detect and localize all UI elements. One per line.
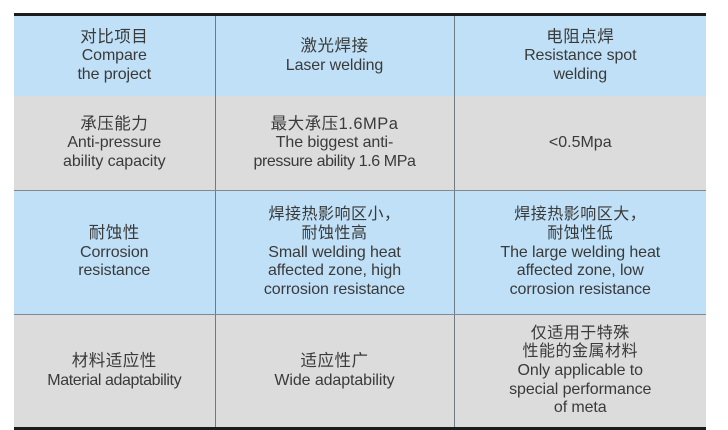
header-en-resistance-spot-welding-line2: welding — [460, 66, 702, 84]
cell-en-corrosion-resistance-line3: corrosion resistance — [460, 281, 702, 299]
cell-anti-pressure-laser: 最大承压1.6MPa The biggest anti- pressure ab… — [215, 96, 454, 191]
cell-en-corrosion-line1: Corrosion — [19, 244, 210, 262]
cell-cn-material-laser: 适应性广 — [221, 352, 449, 371]
header-en-laser-welding-line1: Laser welding — [221, 57, 449, 75]
cell-en-anti-pressure-line1: Anti-pressure — [19, 134, 210, 152]
cell-material-resistance: 仅适用于特殊 性能的金属材料 Only applicable to specia… — [454, 315, 706, 428]
cell-en-material-resistance-line2: special performance — [460, 381, 702, 399]
cell-cn-corrosion-laser-line2: 耐蚀性高 — [221, 225, 449, 244]
cell-cn-material-resistance-line1: 仅适用于特殊 — [460, 325, 702, 344]
cell-corrosion-label: 耐蚀性 Corrosion resistance — [14, 191, 215, 315]
cell-en-material-resistance-line3: of meta — [460, 399, 702, 417]
header-cn-laser-welding: 激光焊接 — [221, 37, 449, 56]
header-en-compare-project-line1: Compare — [19, 47, 210, 65]
cell-en-anti-pressure-laser-line2: pressure ability 1.6 MPa — [221, 153, 449, 171]
header-en-resistance-spot-welding-line1: Resistance spot — [460, 47, 702, 65]
cell-en-corrosion-line2: resistance — [19, 262, 210, 280]
cell-cn-anti-pressure-laser: 最大承压1.6MPa — [221, 115, 449, 134]
cell-cn-corrosion-resistance-line1: 焊接热影响区大， — [460, 206, 702, 225]
cell-material-laser: 适应性广 Wide adaptability — [215, 315, 454, 428]
header-cell-compare-project: 对比项目 Compare the project — [14, 16, 215, 96]
cell-en-corrosion-resistance-line2: affected zone, low — [460, 262, 702, 280]
cell-en-material-resistance-line1: Only applicable to — [460, 362, 702, 380]
cell-en-corrosion-laser-line2: affected zone, high — [221, 262, 449, 280]
cell-cn-material: 材料适应性 — [19, 352, 210, 371]
cell-en-corrosion-laser-line3: corrosion resistance — [221, 281, 449, 299]
header-cn-resistance-spot-welding: 电阻点焊 — [460, 28, 702, 47]
table-row: 材料适应性 Material adaptability 适应性广 Wide ad… — [14, 315, 706, 428]
header-cell-resistance-spot-welding: 电阻点焊 Resistance spot welding — [454, 16, 706, 96]
cell-cn-corrosion: 耐蚀性 — [19, 224, 210, 243]
header-cell-laser-welding: 激光焊接 Laser welding — [215, 16, 454, 96]
cell-en-corrosion-resistance-line1: The large welding heat — [460, 244, 702, 262]
comparison-table-frame: 对比项目 Compare the project 激光焊接 Laser weld… — [14, 13, 706, 430]
cell-material-label: 材料适应性 Material adaptability — [14, 315, 215, 428]
cell-en-corrosion-laser-line1: Small welding heat — [221, 244, 449, 262]
table-row: 耐蚀性 Corrosion resistance 焊接热影响区小， 耐蚀性高 S… — [14, 191, 706, 315]
cell-anti-pressure-resistance: <0.5Mpa — [454, 96, 706, 191]
table-row: 承压能力 Anti-pressure ability capacity 最大承压… — [14, 96, 706, 191]
cell-cn-anti-pressure: 承压能力 — [19, 115, 210, 134]
table-header-row: 对比项目 Compare the project 激光焊接 Laser weld… — [14, 16, 706, 96]
cell-en-anti-pressure-laser-line1: The biggest anti- — [221, 134, 449, 152]
cell-corrosion-resistance: 焊接热影响区大， 耐蚀性低 The large welding heat aff… — [454, 191, 706, 315]
cell-en-material-laser-line1: Wide adaptability — [221, 372, 449, 390]
cell-anti-pressure-label: 承压能力 Anti-pressure ability capacity — [14, 96, 215, 191]
cell-en-material-line1: Material adaptability — [19, 372, 210, 390]
cell-en-anti-pressure-line2: ability capacity — [19, 153, 210, 171]
cell-en-anti-pressure-resistance: <0.5Mpa — [460, 134, 702, 152]
cell-cn-corrosion-resistance-line2: 耐蚀性低 — [460, 225, 702, 244]
header-cn-compare-project: 对比项目 — [19, 28, 210, 47]
welding-comparison-table: 对比项目 Compare the project 激光焊接 Laser weld… — [14, 16, 706, 427]
header-en-compare-project-line2: the project — [19, 66, 210, 84]
cell-cn-material-resistance-line2: 性能的金属材料 — [460, 343, 702, 362]
cell-corrosion-laser: 焊接热影响区小， 耐蚀性高 Small welding heat affecte… — [215, 191, 454, 315]
cell-cn-corrosion-laser-line1: 焊接热影响区小， — [221, 206, 449, 225]
